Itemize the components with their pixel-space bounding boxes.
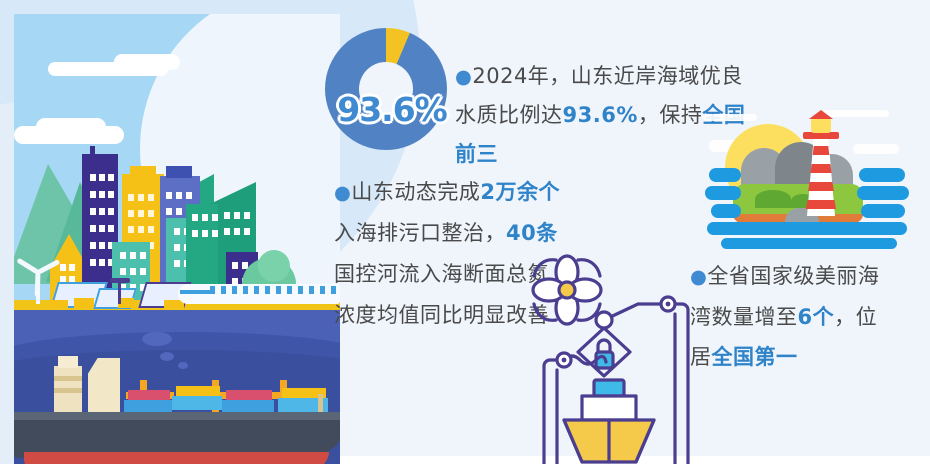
stat-text-beautiful-bays: ●全省国家级美丽海湾数量增至6个，位居全国第一 [690, 256, 898, 377]
lamp-post-icon [118, 282, 121, 304]
ship-superstructure-top [58, 356, 78, 368]
donut-value-label: 93.6% [317, 90, 467, 129]
stat-text-part: ，保持 [638, 103, 703, 127]
stat-highlight: 全国第一 [712, 345, 798, 369]
solar-panel-base [50, 300, 68, 308]
solar-panel-base [74, 298, 94, 308]
building-antenna [90, 146, 95, 156]
shipping-container [128, 390, 170, 400]
building-roof [130, 166, 156, 176]
water-wave [707, 222, 907, 235]
tree-icon [258, 250, 290, 282]
lighthouse-stripe [806, 182, 836, 191]
crane-hub [596, 312, 612, 328]
stat-text-part: 山东动态完成 [351, 180, 480, 204]
shipping-container [226, 390, 272, 400]
stat-text-part: 国控河流入海断面总氮浓度均值同比明显改善 [334, 262, 549, 327]
cloud-icon [853, 144, 899, 154]
water-wave [721, 238, 897, 249]
ship-funnel [594, 380, 624, 396]
gantry-left [544, 360, 564, 464]
water-wave [705, 186, 741, 200]
water-wave [857, 186, 909, 200]
bullet-icon: ● [455, 65, 472, 88]
water-wave [859, 168, 905, 182]
water-bubble [178, 362, 188, 369]
water-wave [711, 204, 741, 218]
stat-highlight: 6个 [798, 305, 835, 329]
cargo-ship-deck [14, 412, 340, 420]
cloud-icon [36, 118, 106, 136]
lamp-post-head [110, 278, 130, 283]
hook-lock [598, 340, 610, 352]
lineart-boat-illustration [520, 252, 710, 464]
cargo-ship-waterline [24, 452, 329, 464]
cloud-icon [114, 54, 180, 70]
train-windows [210, 286, 338, 294]
water-wave [861, 204, 905, 218]
lighthouse-scene-illustration [703, 110, 915, 255]
stat-highlight: 40条 [506, 221, 558, 245]
stat-text-part: 入海排污口整治， [334, 221, 506, 245]
shipping-container [124, 400, 172, 412]
water-bubble [142, 332, 172, 346]
bush-icon [755, 190, 791, 208]
gantry-right [668, 304, 688, 464]
water-bubble [160, 352, 174, 361]
ship-stripe [54, 388, 82, 393]
bullet-icon: ● [690, 265, 707, 288]
city-scene-illustration [14, 14, 340, 464]
shipping-container [172, 396, 222, 410]
ship-bridge [88, 358, 120, 418]
water-quality-donut-chart: 93.6% [325, 28, 447, 150]
lighthouse-lamp [811, 118, 831, 133]
shipping-container [222, 400, 274, 412]
crane-arm [604, 304, 668, 320]
lighthouse-gallery [803, 132, 839, 139]
cloud-icon [823, 110, 889, 117]
infographic-canvas: 93.6% ●2024年，山东近岸海域优良水质比例达93.6%，保持全国前三 ●… [0, 0, 930, 464]
stat-highlight: 2万余个 [480, 180, 560, 204]
stat-highlight: 93.6% [563, 103, 638, 127]
propeller-icon [533, 256, 601, 324]
shipping-container [176, 386, 220, 396]
lighthouse-stripe [805, 200, 837, 209]
ship-deckhouse [582, 396, 636, 420]
bullet-icon: ● [334, 181, 351, 204]
building-roof [166, 166, 192, 178]
water-wave [709, 168, 741, 182]
ship-stripe [54, 376, 82, 381]
cloud-icon [703, 114, 757, 121]
wind-turbine-blade [35, 272, 41, 296]
